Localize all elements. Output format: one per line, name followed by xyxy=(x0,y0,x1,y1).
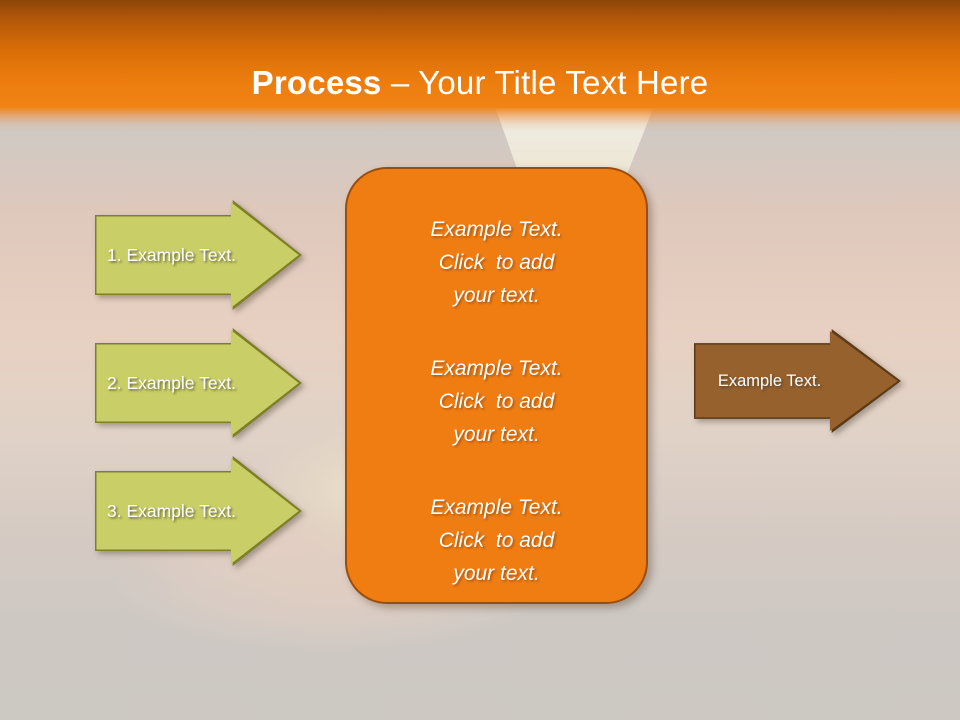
page-title-emphasis: Process xyxy=(252,64,382,101)
result-arrow-label: Example Text. xyxy=(694,372,901,391)
panel-block-2-line-3: your text. xyxy=(361,418,632,451)
step-arrow-1[interactable]: 1. Example Text. xyxy=(95,200,302,310)
title-bar: Process – Your Title Text Here xyxy=(0,0,960,108)
result-arrow[interactable]: Example Text. xyxy=(694,329,901,433)
panel-block-1-line-1: Example Text. xyxy=(361,213,632,246)
panel-block-1-line-3: your text. xyxy=(361,279,632,312)
panel-block-3-line-2: Click to add xyxy=(361,524,632,557)
panel-text-block-1[interactable]: Example Text. Click to add your text. xyxy=(347,213,646,312)
step-arrow-2[interactable]: 2. Example Text. xyxy=(95,328,302,438)
panel-block-3-line-3: your text. xyxy=(361,557,632,590)
step-arrow-2-label: 2. Example Text. xyxy=(95,373,302,394)
step-arrow-3-label: 3. Example Text. xyxy=(95,501,302,522)
panel-block-2-line-2: Click to add xyxy=(361,385,632,418)
panel-block-1-line-2: Click to add xyxy=(361,246,632,279)
page-title-rest: – Your Title Text Here xyxy=(381,64,708,101)
slide-canvas: Process – Your Title Text Here 1. Exampl… xyxy=(0,0,960,720)
page-title: Process – Your Title Text Here xyxy=(252,64,709,102)
step-arrow-3[interactable]: 3. Example Text. xyxy=(95,456,302,566)
title-bar-fade xyxy=(0,107,960,131)
panel-text-block-3[interactable]: Example Text. Click to add your text. xyxy=(347,491,646,590)
panel-text-block-2[interactable]: Example Text. Click to add your text. xyxy=(347,352,646,451)
center-content-panel[interactable]: Example Text. Click to add your text. Ex… xyxy=(345,167,648,604)
step-arrow-1-label: 1. Example Text. xyxy=(95,245,302,266)
panel-block-2-line-1: Example Text. xyxy=(361,352,632,385)
panel-block-3-line-1: Example Text. xyxy=(361,491,632,524)
